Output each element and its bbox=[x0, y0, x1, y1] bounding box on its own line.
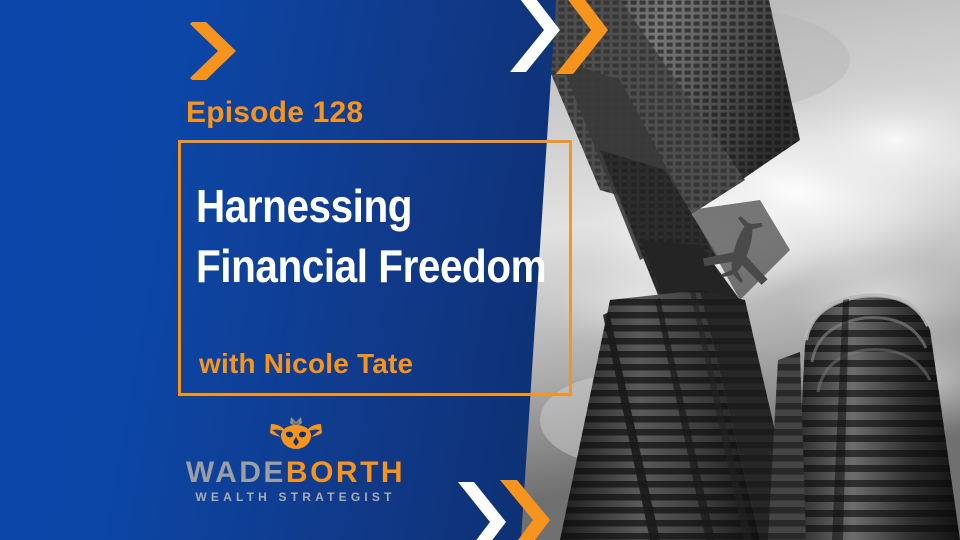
episode-title-line-2: Financial Freedom bbox=[196, 236, 548, 296]
owl-emblem-icon bbox=[178, 416, 413, 455]
episode-title: Harnessing Financial Freedom bbox=[196, 176, 548, 296]
logo-wordmark: WADEBORTH bbox=[178, 457, 413, 489]
logo-tagline: WEALTH STRATEGIST bbox=[178, 490, 413, 504]
guest-label: with Nicole Tate bbox=[199, 348, 413, 380]
chevron-top-center-orange-icon bbox=[556, 0, 610, 74]
episode-cover: Episode 128 Harnessing Financial Freedom… bbox=[0, 0, 960, 540]
chevron-top-left-orange-icon bbox=[190, 22, 238, 80]
logo-word-wade: WADE bbox=[186, 456, 286, 489]
episode-title-line-1: Harnessing bbox=[196, 176, 548, 236]
brand-logo: WADEBORTH WEALTH STRATEGIST bbox=[178, 416, 413, 504]
logo-word-borth: BORTH bbox=[286, 456, 405, 489]
chevron-bottom-center-orange-icon bbox=[500, 480, 552, 540]
chevron-top-center-white-icon bbox=[510, 0, 562, 72]
episode-label: Episode 128 bbox=[186, 96, 363, 130]
